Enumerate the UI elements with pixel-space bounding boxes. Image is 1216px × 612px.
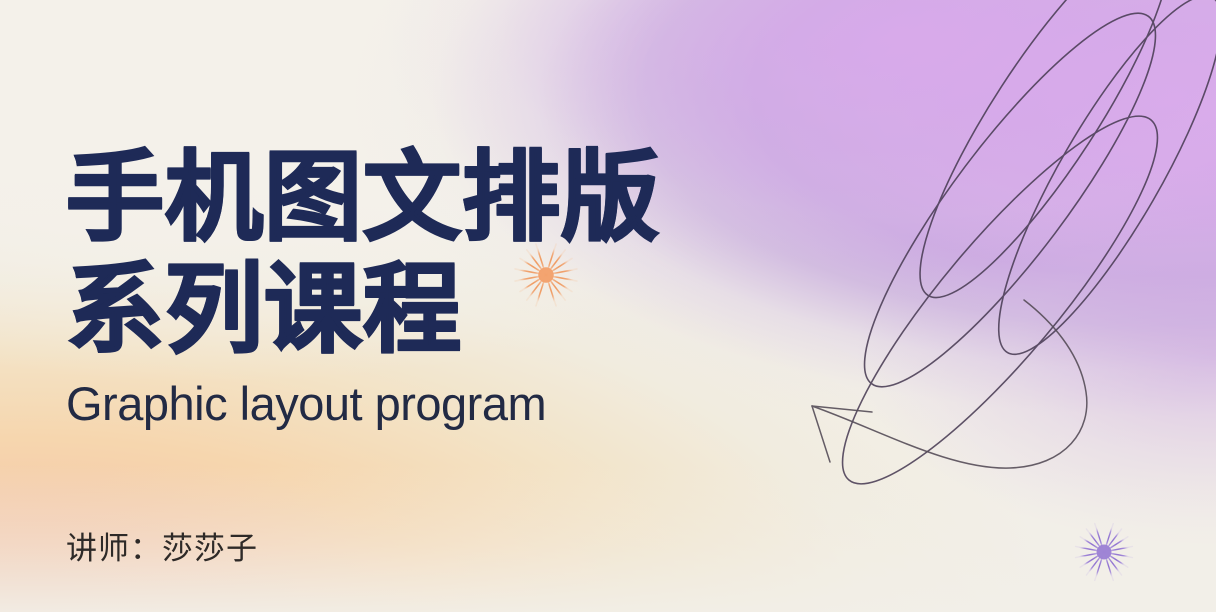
headline-block: 手机图文排版 系列课程 Graphic layout program (66, 148, 766, 427)
title-line-1: 手机图文排版 (66, 148, 766, 246)
curved-arrow (812, 300, 1087, 468)
decorative-ellipse-3 (964, 0, 1216, 378)
ellipse-group (805, 0, 1216, 517)
subtitle: Graphic layout program (66, 380, 766, 427)
title-line-2: 系列课程 (66, 260, 766, 358)
arrow-head-barb-bottom (812, 406, 830, 462)
course-poster: 手机图文排版 系列课程 Graphic layout program 讲师：莎莎… (0, 0, 1216, 612)
arrow-shaft (812, 300, 1087, 468)
instructor-credit: 讲师：莎莎子 (66, 533, 258, 564)
decorative-ellipse-1 (884, 0, 1205, 324)
decorative-ellipse-2 (827, 0, 1193, 417)
